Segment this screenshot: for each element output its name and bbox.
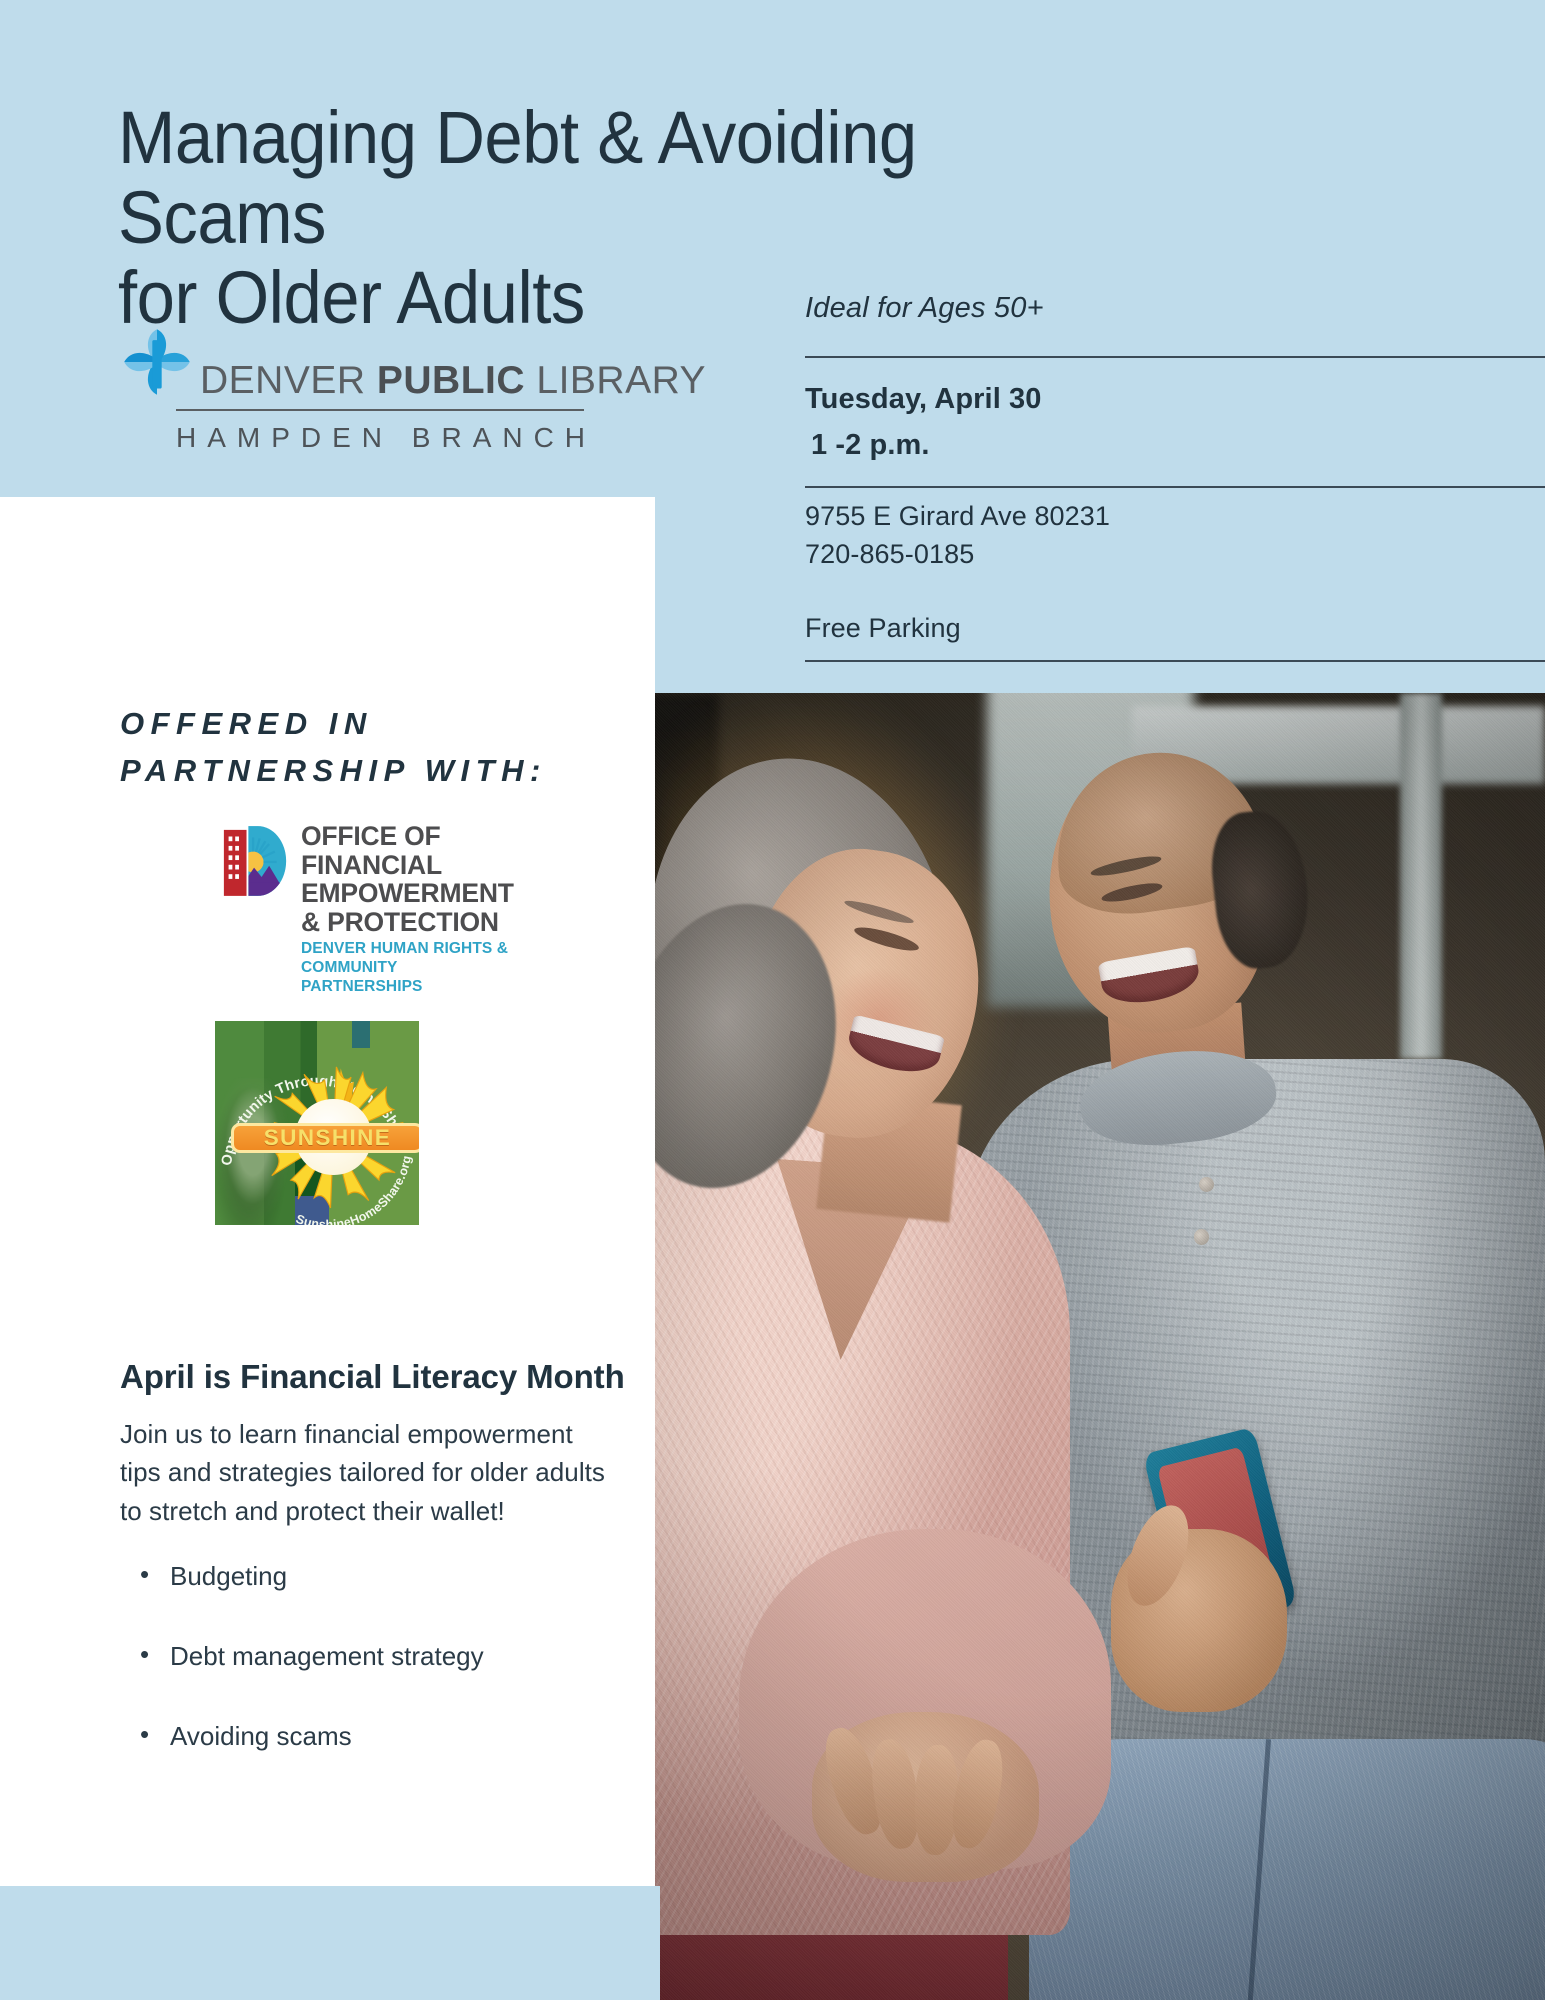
event-date: Tuesday, April 30 bbox=[805, 383, 1545, 416]
branch-name: HAMPDEN BRANCH bbox=[176, 422, 588, 454]
library-name-library: LIBRARY bbox=[525, 359, 706, 402]
denver-public-library-logo: DENVER PUBLIC LIBRARY HAMPDEN BRANCH bbox=[118, 322, 588, 454]
sunshine-band: SUNSHINE bbox=[231, 1123, 420, 1154]
list-item: Budgeting bbox=[132, 1560, 612, 1594]
audience-note: Ideal for Ages 50+ bbox=[805, 292, 1545, 325]
info-divider-1 bbox=[805, 356, 1545, 358]
sun-icon: SUNSHINE bbox=[260, 1064, 407, 1211]
event-info-panel: Ideal for Ages 50+ Tuesday, April 30 1 -… bbox=[805, 292, 1545, 662]
list-item: Debt management strategy bbox=[132, 1640, 612, 1674]
denver-building-sun-mountain-icon bbox=[222, 820, 288, 902]
event-time: 1 -2 p.m. bbox=[805, 429, 1545, 462]
list-item: Avoiding scams bbox=[132, 1720, 612, 1754]
office-financial-empowerment-logo: OFFICE OF FINANCIAL EMPOWERMENT & PROTEC… bbox=[222, 820, 512, 997]
partnership-heading-line-1: OFFERED IN bbox=[120, 700, 680, 747]
photo-older-adults-laughing bbox=[512, 693, 1545, 2000]
partnership-heading-line-2: PARTNERSHIP WITH: bbox=[120, 747, 680, 794]
partnership-heading: OFFERED IN PARTNERSHIP WITH: bbox=[120, 700, 680, 794]
topics-list: Budgeting Debt management strategy Avoid… bbox=[132, 1560, 612, 1799]
parking-note: Free Parking bbox=[805, 613, 1545, 644]
footer-blue-band bbox=[0, 1886, 660, 2000]
library-name-public: PUBLIC bbox=[377, 359, 525, 402]
sunshine-home-share-logo: Opportunity Through Home Sharing Sunshin… bbox=[215, 1021, 419, 1225]
info-divider-2 bbox=[805, 486, 1545, 488]
body-heading: April is Financial Literacy Month bbox=[120, 1358, 640, 1396]
sunshine-band-label: SUNSHINE bbox=[264, 1125, 391, 1151]
logo-divider bbox=[176, 409, 584, 411]
ofe-title: OFFICE OF FINANCIAL EMPOWERMENT & PROTEC… bbox=[301, 821, 514, 937]
page-title-line-1: Managing Debt & Avoiding Scams bbox=[118, 98, 1122, 258]
library-name-denver: DENVER bbox=[200, 359, 377, 402]
event-address: 9755 E Girard Ave 80231 bbox=[805, 501, 1545, 532]
event-phone: 720-865-0185 bbox=[805, 539, 1545, 570]
body-paragraph: Join us to learn financial empowerment t… bbox=[120, 1415, 610, 1530]
info-divider-3 bbox=[805, 660, 1545, 662]
pinwheel-star-icon bbox=[118, 322, 196, 402]
library-name: DENVER PUBLIC LIBRARY bbox=[200, 361, 706, 402]
ofe-subtitle: DENVER HUMAN RIGHTS & COMMUNITY PARTNERS… bbox=[301, 940, 514, 997]
